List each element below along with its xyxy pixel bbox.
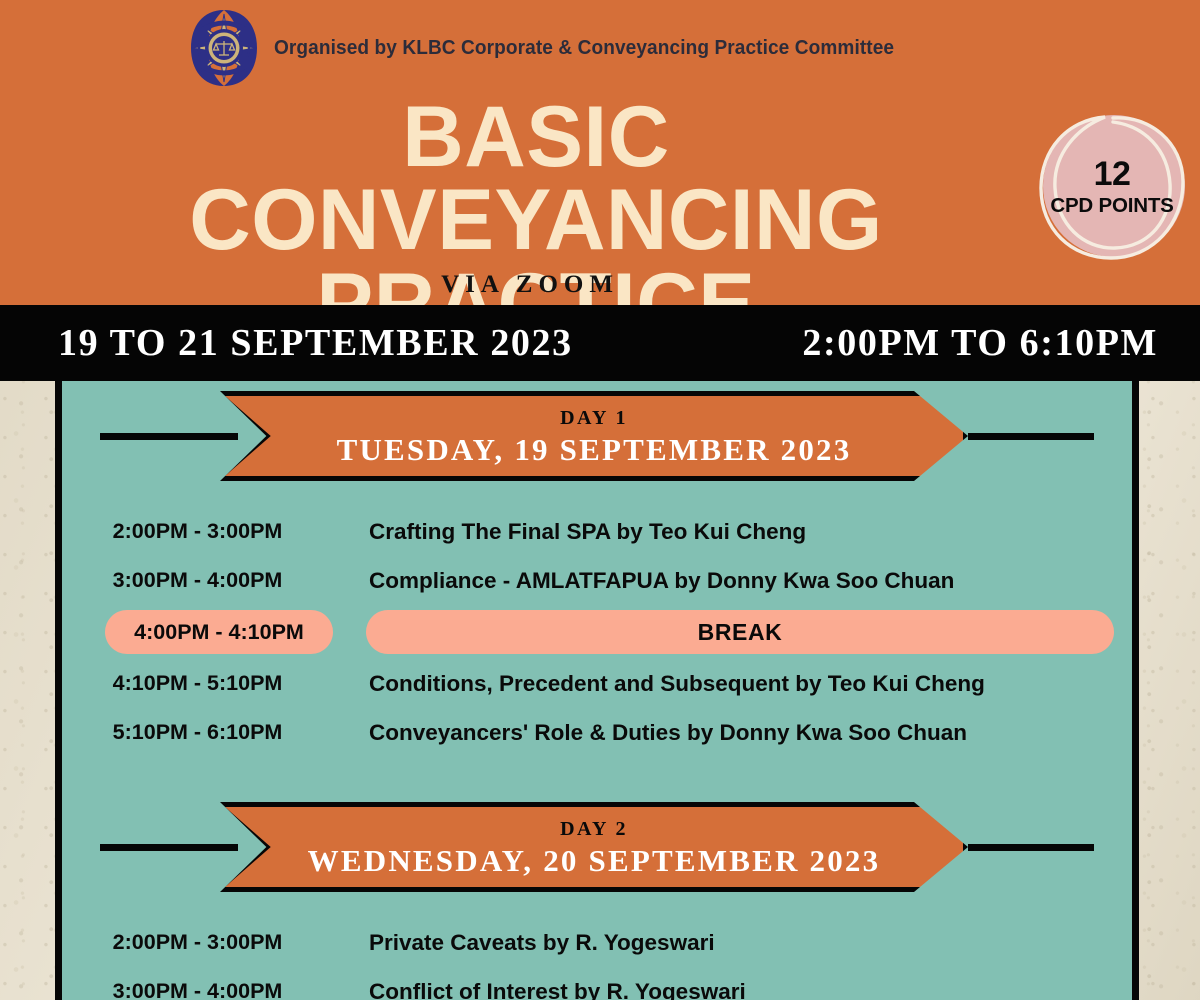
organiser-row: Organised by KLBC Corporate & Conveyanci… [188,6,941,90]
session-time: 2:00PM - 3:00PM [62,519,333,544]
ribbon-line-left [100,433,238,440]
spacer [62,892,1132,918]
event-dates: 19 TO 21 SEPTEMBER 2023 [58,321,573,365]
schedule-row: 2:00PM - 3:00PM Private Caveats by R. Yo… [62,918,1132,967]
schedule-row-break: 4:00PM - 4:10PM BREAK [62,605,1132,659]
schedule-rows-day-1: 2:00PM - 3:00PM Crafting The Final SPA b… [62,507,1132,757]
ribbon-label-group: DAY 1 TUESDAY, 19 SEPTEMBER 2023 [220,391,968,481]
session-topic: Private Caveats by R. Yogeswari [333,930,1132,956]
spacer [62,381,1132,391]
platform-label: VIA ZOOM [0,271,1060,299]
day-banner-2: DAY 2 WEDNESDAY, 20 SEPTEMBER 2023 [62,802,1132,892]
session-topic: Conditions, Precedent and Subsequent by … [333,671,1132,697]
event-times: 2:00PM TO 6:10PM [802,321,1158,365]
cpd-points-badge: 12 CPD POINTS [1037,112,1187,262]
schedule-row: 5:10PM - 6:10PM Conveyancers' Role & Dut… [62,708,1132,757]
day-label: DAY 2 [560,817,628,841]
session-time: 5:10PM - 6:10PM [62,720,333,745]
panel-border-left [55,381,62,1000]
session-topic: Compliance - AMLATFAPUA by Donny Kwa Soo… [333,568,1132,594]
session-topic: Conveyancers' Role & Duties by Donny Kwa… [333,720,1132,746]
schedule-panel: DAY 1 TUESDAY, 19 SEPTEMBER 2023 2:00PM … [62,381,1132,1000]
break-time-pill: 4:00PM - 4:10PM [105,610,333,654]
cpd-points-number: 12 [1094,157,1131,191]
ribbon-line-right [956,844,1094,851]
day-date: TUESDAY, 19 SEPTEMBER 2023 [337,431,852,470]
session-time: 3:00PM - 4:00PM [62,568,333,593]
schedule-row: 4:10PM - 5:10PM Conditions, Precedent an… [62,659,1132,708]
session-topic: Crafting The Final SPA by Teo Kui Cheng [333,519,1132,545]
schedule-row: 2:00PM - 3:00PM Crafting The Final SPA b… [62,507,1132,556]
poster-header: Organised by KLBC Corporate & Conveyanci… [0,0,1200,305]
schedule-row: 3:00PM - 4:00PM Compliance - AMLATFAPUA … [62,556,1132,605]
schedule-rows-day-2: 2:00PM - 3:00PM Private Caveats by R. Yo… [62,918,1132,1000]
organiser-text: Organised by KLBC Corporate & Conveyanci… [274,36,894,60]
event-poster: Organised by KLBC Corporate & Conveyanci… [0,0,1200,1000]
klbc-crest-logo [188,6,260,90]
spacer [62,757,1132,802]
ribbon-line-right [956,433,1094,440]
cpd-badge-text: 12 CPD POINTS [1037,112,1187,262]
ribbon-label-group: DAY 2 WEDNESDAY, 20 SEPTEMBER 2023 [220,802,968,892]
date-time-strip: 19 TO 21 SEPTEMBER 2023 2:00PM TO 6:10PM [0,305,1200,381]
session-topic: Conflict of Interest by R. Yogeswari [333,979,1132,1000]
session-time: 3:00PM - 4:00PM [62,979,333,1000]
cpd-points-label: CPD POINTS [1050,194,1173,218]
spacer [62,481,1132,507]
ribbon-line-left [100,844,238,851]
day-label: DAY 1 [560,406,628,430]
session-time: 4:10PM - 5:10PM [62,671,333,696]
panel-border-right [1132,381,1139,1000]
day-banner-1: DAY 1 TUESDAY, 19 SEPTEMBER 2023 [62,391,1132,481]
session-time: 2:00PM - 3:00PM [62,930,333,955]
title-line-1: BASIC CONVEYANCING [51,96,1021,263]
break-label-pill: BREAK [366,610,1114,654]
schedule-row: 3:00PM - 4:00PM Conflict of Interest by … [62,967,1132,1000]
day-date: WEDNESDAY, 20 SEPTEMBER 2023 [308,842,881,881]
